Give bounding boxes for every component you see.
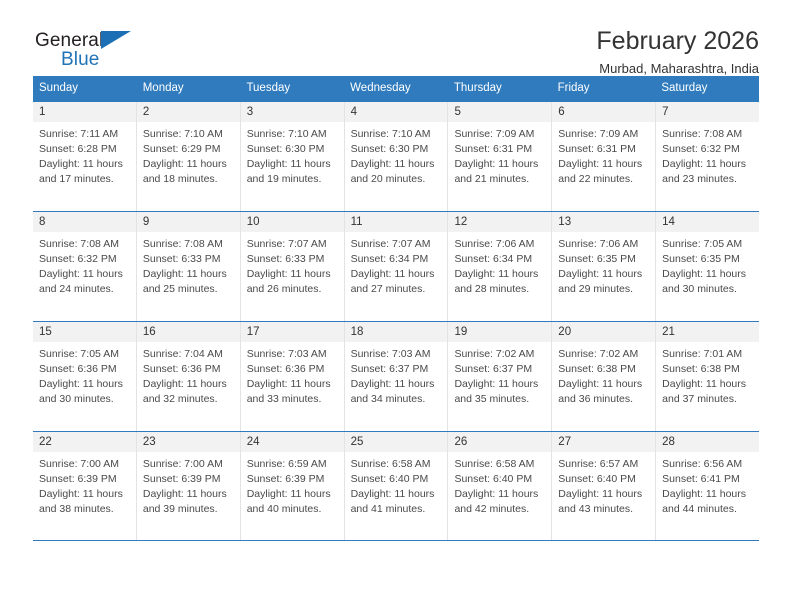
sunset-text: Sunset: 6:39 PM bbox=[39, 472, 130, 487]
daylight-text-line1: Daylight: 11 hours bbox=[454, 487, 545, 502]
day-cell[interactable]: 1 Sunrise: 7:11 AM Sunset: 6:28 PM Dayli… bbox=[33, 102, 136, 211]
sunrise-text: Sunrise: 7:10 AM bbox=[247, 127, 338, 142]
sunrise-text: Sunrise: 7:11 AM bbox=[39, 127, 130, 142]
triangle-flag-icon bbox=[101, 31, 131, 49]
sunset-text: Sunset: 6:40 PM bbox=[558, 472, 649, 487]
daylight-text-line2: and 26 minutes. bbox=[247, 282, 338, 297]
day-details: Sunrise: 7:02 AM Sunset: 6:38 PM Dayligh… bbox=[552, 342, 655, 407]
day-details: Sunrise: 7:05 AM Sunset: 6:35 PM Dayligh… bbox=[656, 232, 759, 297]
day-cell[interactable]: 3 Sunrise: 7:10 AM Sunset: 6:30 PM Dayli… bbox=[240, 102, 344, 211]
daylight-text-line1: Daylight: 11 hours bbox=[351, 487, 442, 502]
daylight-text-line1: Daylight: 11 hours bbox=[143, 157, 234, 172]
page-subtitle: Murbad, Maharashtra, India bbox=[596, 61, 759, 76]
sunrise-text: Sunrise: 7:04 AM bbox=[143, 347, 234, 362]
week-row: 15 Sunrise: 7:05 AM Sunset: 6:36 PM Dayl… bbox=[33, 321, 759, 431]
sunset-text: Sunset: 6:28 PM bbox=[39, 142, 130, 157]
sunset-text: Sunset: 6:32 PM bbox=[39, 252, 130, 267]
sunrise-text: Sunrise: 7:03 AM bbox=[247, 347, 338, 362]
day-details: Sunrise: 7:09 AM Sunset: 6:31 PM Dayligh… bbox=[448, 122, 551, 187]
daylight-text-line1: Daylight: 11 hours bbox=[39, 487, 130, 502]
day-cell[interactable]: 24 Sunrise: 6:59 AM Sunset: 6:39 PM Dayl… bbox=[240, 432, 344, 540]
day-number: 19 bbox=[448, 322, 551, 342]
day-number: 18 bbox=[345, 322, 448, 342]
daylight-text-line1: Daylight: 11 hours bbox=[558, 377, 649, 392]
day-number: 4 bbox=[345, 102, 448, 122]
daylight-text-line1: Daylight: 11 hours bbox=[247, 377, 338, 392]
day-number: 13 bbox=[552, 212, 655, 232]
sunrise-text: Sunrise: 7:07 AM bbox=[351, 237, 442, 252]
sunrise-text: Sunrise: 7:06 AM bbox=[454, 237, 545, 252]
daylight-text-line2: and 21 minutes. bbox=[454, 172, 545, 187]
sunset-text: Sunset: 6:39 PM bbox=[247, 472, 338, 487]
daylight-text-line1: Daylight: 11 hours bbox=[662, 157, 753, 172]
weekday-header-thursday: Thursday bbox=[448, 76, 552, 101]
day-number: 9 bbox=[137, 212, 240, 232]
sunset-text: Sunset: 6:30 PM bbox=[351, 142, 442, 157]
day-number: 6 bbox=[552, 102, 655, 122]
daylight-text-line2: and 29 minutes. bbox=[558, 282, 649, 297]
daylight-text-line2: and 43 minutes. bbox=[558, 502, 649, 517]
day-details: Sunrise: 7:03 AM Sunset: 6:36 PM Dayligh… bbox=[241, 342, 344, 407]
sunset-text: Sunset: 6:31 PM bbox=[558, 142, 649, 157]
daylight-text-line1: Daylight: 11 hours bbox=[351, 377, 442, 392]
day-cell[interactable]: 14 Sunrise: 7:05 AM Sunset: 6:35 PM Dayl… bbox=[655, 212, 759, 321]
day-cell[interactable]: 28 Sunrise: 6:56 AM Sunset: 6:41 PM Dayl… bbox=[655, 432, 759, 540]
day-details: Sunrise: 7:02 AM Sunset: 6:37 PM Dayligh… bbox=[448, 342, 551, 407]
sunset-text: Sunset: 6:38 PM bbox=[558, 362, 649, 377]
week-row: 1 Sunrise: 7:11 AM Sunset: 6:28 PM Dayli… bbox=[33, 101, 759, 211]
daylight-text-line1: Daylight: 11 hours bbox=[39, 377, 130, 392]
daylight-text-line1: Daylight: 11 hours bbox=[558, 267, 649, 282]
daylight-text-line1: Daylight: 11 hours bbox=[143, 267, 234, 282]
daylight-text-line1: Daylight: 11 hours bbox=[247, 267, 338, 282]
day-number: 27 bbox=[552, 432, 655, 452]
daylight-text-line1: Daylight: 11 hours bbox=[351, 157, 442, 172]
sunrise-text: Sunrise: 7:08 AM bbox=[39, 237, 130, 252]
sunrise-text: Sunrise: 7:01 AM bbox=[662, 347, 753, 362]
week-row: 8 Sunrise: 7:08 AM Sunset: 6:32 PM Dayli… bbox=[33, 211, 759, 321]
daylight-text-line2: and 36 minutes. bbox=[558, 392, 649, 407]
daylight-text-line1: Daylight: 11 hours bbox=[143, 377, 234, 392]
daylight-text-line2: and 18 minutes. bbox=[143, 172, 234, 187]
day-number: 10 bbox=[241, 212, 344, 232]
daylight-text-line2: and 23 minutes. bbox=[662, 172, 753, 187]
day-number: 14 bbox=[656, 212, 759, 232]
sunset-text: Sunset: 6:40 PM bbox=[351, 472, 442, 487]
daylight-text-line2: and 39 minutes. bbox=[143, 502, 234, 517]
day-cell[interactable]: 9 Sunrise: 7:08 AM Sunset: 6:33 PM Dayli… bbox=[136, 212, 240, 321]
sunrise-text: Sunrise: 7:00 AM bbox=[143, 457, 234, 472]
weekday-header-friday: Friday bbox=[552, 76, 656, 101]
day-cell[interactable]: 11 Sunrise: 7:07 AM Sunset: 6:34 PM Dayl… bbox=[344, 212, 448, 321]
day-cell[interactable]: 2 Sunrise: 7:10 AM Sunset: 6:29 PM Dayli… bbox=[136, 102, 240, 211]
day-number: 17 bbox=[241, 322, 344, 342]
day-details: Sunrise: 7:08 AM Sunset: 6:33 PM Dayligh… bbox=[137, 232, 240, 297]
sunset-text: Sunset: 6:34 PM bbox=[351, 252, 442, 267]
day-details: Sunrise: 7:00 AM Sunset: 6:39 PM Dayligh… bbox=[33, 452, 136, 517]
sunrise-text: Sunrise: 7:10 AM bbox=[351, 127, 442, 142]
daylight-text-line1: Daylight: 11 hours bbox=[662, 487, 753, 502]
sunset-text: Sunset: 6:39 PM bbox=[143, 472, 234, 487]
day-number: 21 bbox=[656, 322, 759, 342]
day-cell[interactable]: 15 Sunrise: 7:05 AM Sunset: 6:36 PM Dayl… bbox=[33, 322, 136, 431]
daylight-text-line2: and 44 minutes. bbox=[662, 502, 753, 517]
sunrise-text: Sunrise: 7:08 AM bbox=[143, 237, 234, 252]
brand-name-blue: Blue bbox=[61, 50, 99, 69]
daylight-text-line2: and 24 minutes. bbox=[39, 282, 130, 297]
day-details: Sunrise: 7:09 AM Sunset: 6:31 PM Dayligh… bbox=[552, 122, 655, 187]
day-details: Sunrise: 6:56 AM Sunset: 6:41 PM Dayligh… bbox=[656, 452, 759, 517]
day-cell[interactable]: 27 Sunrise: 6:57 AM Sunset: 6:40 PM Dayl… bbox=[551, 432, 655, 540]
day-number: 23 bbox=[137, 432, 240, 452]
weekday-header-monday: Monday bbox=[137, 76, 241, 101]
sunset-text: Sunset: 6:30 PM bbox=[247, 142, 338, 157]
daylight-text-line2: and 30 minutes. bbox=[39, 392, 130, 407]
daylight-text-line1: Daylight: 11 hours bbox=[662, 377, 753, 392]
sunrise-text: Sunrise: 7:02 AM bbox=[558, 347, 649, 362]
weekday-header-sunday: Sunday bbox=[33, 76, 137, 101]
day-cell[interactable]: 18 Sunrise: 7:03 AM Sunset: 6:37 PM Dayl… bbox=[344, 322, 448, 431]
day-cell[interactable]: 21 Sunrise: 7:01 AM Sunset: 6:38 PM Dayl… bbox=[655, 322, 759, 431]
sunrise-text: Sunrise: 7:02 AM bbox=[454, 347, 545, 362]
day-details: Sunrise: 7:10 AM Sunset: 6:30 PM Dayligh… bbox=[241, 122, 344, 187]
weekday-header-tuesday: Tuesday bbox=[240, 76, 344, 101]
daylight-text-line1: Daylight: 11 hours bbox=[454, 157, 545, 172]
day-details: Sunrise: 7:01 AM Sunset: 6:38 PM Dayligh… bbox=[656, 342, 759, 407]
sunrise-text: Sunrise: 7:08 AM bbox=[662, 127, 753, 142]
day-details: Sunrise: 7:00 AM Sunset: 6:39 PM Dayligh… bbox=[137, 452, 240, 517]
day-cell[interactable]: 19 Sunrise: 7:02 AM Sunset: 6:37 PM Dayl… bbox=[447, 322, 551, 431]
daylight-text-line1: Daylight: 11 hours bbox=[662, 267, 753, 282]
sunset-text: Sunset: 6:35 PM bbox=[558, 252, 649, 267]
daylight-text-line1: Daylight: 11 hours bbox=[39, 267, 130, 282]
page-header: General Blue February 2026 Murbad, Mahar… bbox=[33, 0, 759, 72]
calendar-grid: Sunday Monday Tuesday Wednesday Thursday… bbox=[33, 76, 759, 541]
sunrise-text: Sunrise: 7:09 AM bbox=[454, 127, 545, 142]
day-cell[interactable]: 10 Sunrise: 7:07 AM Sunset: 6:33 PM Dayl… bbox=[240, 212, 344, 321]
daylight-text-line1: Daylight: 11 hours bbox=[247, 487, 338, 502]
sunset-text: Sunset: 6:37 PM bbox=[454, 362, 545, 377]
day-details: Sunrise: 7:06 AM Sunset: 6:34 PM Dayligh… bbox=[448, 232, 551, 297]
brand-name-general: General bbox=[35, 31, 103, 50]
daylight-text-line2: and 30 minutes. bbox=[662, 282, 753, 297]
day-cell[interactable]: 25 Sunrise: 6:58 AM Sunset: 6:40 PM Dayl… bbox=[344, 432, 448, 540]
day-number: 20 bbox=[552, 322, 655, 342]
daylight-text-line2: and 41 minutes. bbox=[351, 502, 442, 517]
day-details: Sunrise: 7:06 AM Sunset: 6:35 PM Dayligh… bbox=[552, 232, 655, 297]
day-number: 11 bbox=[345, 212, 448, 232]
daylight-text-line1: Daylight: 11 hours bbox=[558, 157, 649, 172]
daylight-text-line2: and 32 minutes. bbox=[143, 392, 234, 407]
sunrise-text: Sunrise: 7:10 AM bbox=[143, 127, 234, 142]
day-details: Sunrise: 6:58 AM Sunset: 6:40 PM Dayligh… bbox=[345, 452, 448, 517]
day-number: 25 bbox=[345, 432, 448, 452]
sunrise-text: Sunrise: 6:56 AM bbox=[662, 457, 753, 472]
sunrise-text: Sunrise: 7:06 AM bbox=[558, 237, 649, 252]
day-number: 26 bbox=[448, 432, 551, 452]
weekday-header-wednesday: Wednesday bbox=[344, 76, 448, 101]
page-title: February 2026 bbox=[596, 28, 759, 54]
sunrise-text: Sunrise: 7:05 AM bbox=[39, 347, 130, 362]
day-details: Sunrise: 7:08 AM Sunset: 6:32 PM Dayligh… bbox=[656, 122, 759, 187]
day-details: Sunrise: 7:05 AM Sunset: 6:36 PM Dayligh… bbox=[33, 342, 136, 407]
daylight-text-line2: and 37 minutes. bbox=[662, 392, 753, 407]
sunset-text: Sunset: 6:37 PM bbox=[351, 362, 442, 377]
daylight-text-line2: and 42 minutes. bbox=[454, 502, 545, 517]
day-details: Sunrise: 6:58 AM Sunset: 6:40 PM Dayligh… bbox=[448, 452, 551, 517]
day-number: 28 bbox=[656, 432, 759, 452]
sunrise-text: Sunrise: 7:07 AM bbox=[247, 237, 338, 252]
daylight-text-line2: and 20 minutes. bbox=[351, 172, 442, 187]
sunset-text: Sunset: 6:33 PM bbox=[247, 252, 338, 267]
daylight-text-line2: and 25 minutes. bbox=[143, 282, 234, 297]
day-cell[interactable]: 22 Sunrise: 7:00 AM Sunset: 6:39 PM Dayl… bbox=[33, 432, 136, 540]
sunrise-text: Sunrise: 7:00 AM bbox=[39, 457, 130, 472]
daylight-text-line2: and 22 minutes. bbox=[558, 172, 649, 187]
sunrise-text: Sunrise: 7:09 AM bbox=[558, 127, 649, 142]
daylight-text-line2: and 19 minutes. bbox=[247, 172, 338, 187]
day-details: Sunrise: 7:08 AM Sunset: 6:32 PM Dayligh… bbox=[33, 232, 136, 297]
sunset-text: Sunset: 6:29 PM bbox=[143, 142, 234, 157]
daylight-text-line2: and 27 minutes. bbox=[351, 282, 442, 297]
daylight-text-line1: Daylight: 11 hours bbox=[39, 157, 130, 172]
sunset-text: Sunset: 6:40 PM bbox=[454, 472, 545, 487]
sunrise-text: Sunrise: 6:58 AM bbox=[454, 457, 545, 472]
sunrise-text: Sunrise: 7:05 AM bbox=[662, 237, 753, 252]
sunrise-text: Sunrise: 6:59 AM bbox=[247, 457, 338, 472]
day-cell[interactable]: 17 Sunrise: 7:03 AM Sunset: 6:36 PM Dayl… bbox=[240, 322, 344, 431]
day-cell[interactable]: 26 Sunrise: 6:58 AM Sunset: 6:40 PM Dayl… bbox=[447, 432, 551, 540]
day-cell[interactable]: 12 Sunrise: 7:06 AM Sunset: 6:34 PM Dayl… bbox=[447, 212, 551, 321]
sunrise-text: Sunrise: 7:03 AM bbox=[351, 347, 442, 362]
daylight-text-line2: and 35 minutes. bbox=[454, 392, 545, 407]
day-cell[interactable]: 16 Sunrise: 7:04 AM Sunset: 6:36 PM Dayl… bbox=[136, 322, 240, 431]
day-details: Sunrise: 7:03 AM Sunset: 6:37 PM Dayligh… bbox=[345, 342, 448, 407]
daylight-text-line1: Daylight: 11 hours bbox=[558, 487, 649, 502]
sunrise-text: Sunrise: 6:58 AM bbox=[351, 457, 442, 472]
day-details: Sunrise: 7:04 AM Sunset: 6:36 PM Dayligh… bbox=[137, 342, 240, 407]
day-cell[interactable]: 7 Sunrise: 7:08 AM Sunset: 6:32 PM Dayli… bbox=[655, 102, 759, 211]
day-number: 16 bbox=[137, 322, 240, 342]
weekday-header-row: Sunday Monday Tuesday Wednesday Thursday… bbox=[33, 76, 759, 101]
daylight-text-line1: Daylight: 11 hours bbox=[351, 267, 442, 282]
daylight-text-line2: and 17 minutes. bbox=[39, 172, 130, 187]
day-cell[interactable]: 5 Sunrise: 7:09 AM Sunset: 6:31 PM Dayli… bbox=[447, 102, 551, 211]
sunset-text: Sunset: 6:41 PM bbox=[662, 472, 753, 487]
daylight-text-line2: and 38 minutes. bbox=[39, 502, 130, 517]
day-number: 5 bbox=[448, 102, 551, 122]
title-block: February 2026 Murbad, Maharashtra, India bbox=[596, 28, 759, 76]
daylight-text-line2: and 34 minutes. bbox=[351, 392, 442, 407]
day-number: 8 bbox=[33, 212, 136, 232]
day-number: 24 bbox=[241, 432, 344, 452]
calendar-page: General Blue February 2026 Murbad, Mahar… bbox=[0, 0, 792, 612]
day-details: Sunrise: 7:07 AM Sunset: 6:33 PM Dayligh… bbox=[241, 232, 344, 297]
day-cell[interactable]: 8 Sunrise: 7:08 AM Sunset: 6:32 PM Dayli… bbox=[33, 212, 136, 321]
day-number: 22 bbox=[33, 432, 136, 452]
day-cell[interactable]: 23 Sunrise: 7:00 AM Sunset: 6:39 PM Dayl… bbox=[136, 432, 240, 540]
day-details: Sunrise: 6:59 AM Sunset: 6:39 PM Dayligh… bbox=[241, 452, 344, 517]
sunset-text: Sunset: 6:33 PM bbox=[143, 252, 234, 267]
sunset-text: Sunset: 6:34 PM bbox=[454, 252, 545, 267]
day-details: Sunrise: 6:57 AM Sunset: 6:40 PM Dayligh… bbox=[552, 452, 655, 517]
day-number: 3 bbox=[241, 102, 344, 122]
sunrise-text: Sunrise: 6:57 AM bbox=[558, 457, 649, 472]
day-details: Sunrise: 7:10 AM Sunset: 6:30 PM Dayligh… bbox=[345, 122, 448, 187]
day-number: 12 bbox=[448, 212, 551, 232]
daylight-text-line2: and 40 minutes. bbox=[247, 502, 338, 517]
daylight-text-line1: Daylight: 11 hours bbox=[454, 377, 545, 392]
day-cell[interactable]: 6 Sunrise: 7:09 AM Sunset: 6:31 PM Dayli… bbox=[551, 102, 655, 211]
day-cell[interactable]: 13 Sunrise: 7:06 AM Sunset: 6:35 PM Dayl… bbox=[551, 212, 655, 321]
weekday-header-saturday: Saturday bbox=[655, 76, 759, 101]
daylight-text-line2: and 28 minutes. bbox=[454, 282, 545, 297]
week-row: 22 Sunrise: 7:00 AM Sunset: 6:39 PM Dayl… bbox=[33, 431, 759, 541]
sunset-text: Sunset: 6:36 PM bbox=[247, 362, 338, 377]
day-number: 2 bbox=[137, 102, 240, 122]
day-number: 1 bbox=[33, 102, 136, 122]
sunset-text: Sunset: 6:31 PM bbox=[454, 142, 545, 157]
daylight-text-line1: Daylight: 11 hours bbox=[143, 487, 234, 502]
sunset-text: Sunset: 6:35 PM bbox=[662, 252, 753, 267]
day-details: Sunrise: 7:11 AM Sunset: 6:28 PM Dayligh… bbox=[33, 122, 136, 187]
day-details: Sunrise: 7:10 AM Sunset: 6:29 PM Dayligh… bbox=[137, 122, 240, 187]
day-number: 7 bbox=[656, 102, 759, 122]
sunset-text: Sunset: 6:36 PM bbox=[39, 362, 130, 377]
sunset-text: Sunset: 6:38 PM bbox=[662, 362, 753, 377]
day-cell[interactable]: 4 Sunrise: 7:10 AM Sunset: 6:30 PM Dayli… bbox=[344, 102, 448, 211]
day-details: Sunrise: 7:07 AM Sunset: 6:34 PM Dayligh… bbox=[345, 232, 448, 297]
daylight-text-line1: Daylight: 11 hours bbox=[454, 267, 545, 282]
day-number: 15 bbox=[33, 322, 136, 342]
day-cell[interactable]: 20 Sunrise: 7:02 AM Sunset: 6:38 PM Dayl… bbox=[551, 322, 655, 431]
daylight-text-line1: Daylight: 11 hours bbox=[247, 157, 338, 172]
sunset-text: Sunset: 6:32 PM bbox=[662, 142, 753, 157]
sunset-text: Sunset: 6:36 PM bbox=[143, 362, 234, 377]
daylight-text-line2: and 33 minutes. bbox=[247, 392, 338, 407]
general-blue-logo[interactable]: General Blue bbox=[33, 28, 153, 76]
